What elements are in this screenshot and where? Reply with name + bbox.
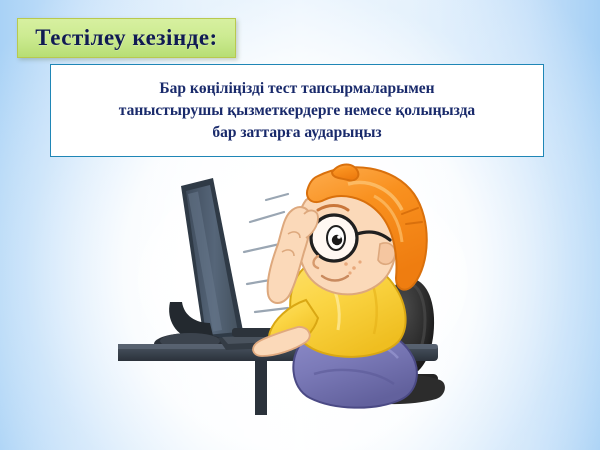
boy-eye xyxy=(327,226,345,250)
message-line-2: таныстырушы қызметкердерге немесе қолыңы… xyxy=(119,100,475,122)
slide-title-text: Тестілеу кезінде: xyxy=(35,25,217,51)
boy-at-computer-illustration xyxy=(118,160,498,415)
slide-title-badge: Тестілеу кезінде: xyxy=(17,18,236,58)
message-line-3: бар заттарға аударыңыз xyxy=(212,122,381,144)
message-text-box: Бар көңіліңізді тест тапсырмаларымен тан… xyxy=(50,64,544,157)
illustration-svg xyxy=(118,160,498,415)
message-line-1: Бар көңіліңізді тест тапсырмаларымен xyxy=(159,78,434,100)
